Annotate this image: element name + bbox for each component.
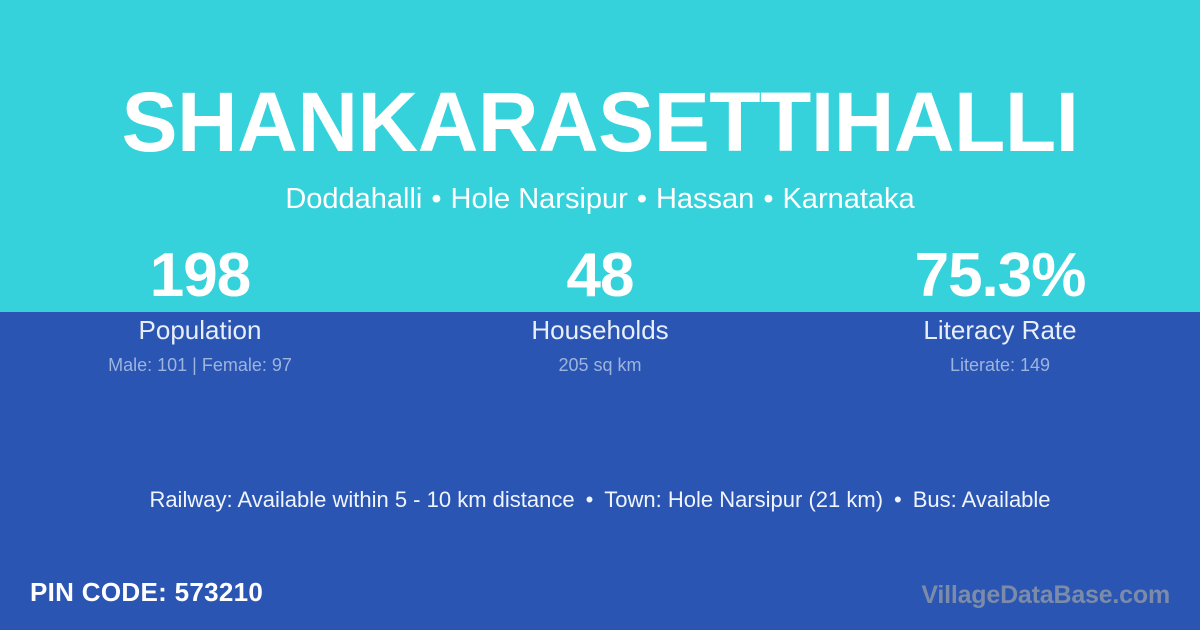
stat-value: 48: [400, 240, 800, 312]
stat-value: 198: [0, 240, 400, 312]
breadcrumb-item-state: Karnataka: [782, 183, 914, 215]
transport-separator: •: [883, 487, 913, 512]
transport-item-town: Town: Hole Narsipur (21 km): [604, 487, 883, 512]
breadcrumb-item-village: Doddahalli: [285, 183, 422, 215]
page-title: SHANKARASETTIHALLI: [0, 76, 1200, 168]
breadcrumb-separator: •: [422, 183, 450, 215]
stat-population: 198 Population Male: 101 | Female: 97: [0, 240, 400, 376]
breadcrumb-item-taluk: Hole Narsipur: [451, 183, 628, 215]
transport-item-railway: Railway: Available within 5 - 10 km dist…: [149, 487, 574, 512]
transport-item-bus: Bus: Available: [913, 487, 1051, 512]
stat-sublabel: Male: 101 | Female: 97: [0, 354, 400, 376]
stat-label: Population: [0, 315, 400, 345]
site-watermark: VillageDataBase.com: [921, 578, 1170, 612]
stat-value: 75.3%: [800, 240, 1200, 312]
breadcrumb: Doddahalli•Hole Narsipur•Hassan•Karnatak…: [0, 180, 1200, 218]
stats-row: 198 Population Male: 101 | Female: 97 48…: [0, 240, 1200, 376]
village-info-card: SHANKARASETTIHALLI Doddahalli•Hole Narsi…: [0, 0, 1200, 630]
stat-label: Households: [400, 315, 800, 345]
stat-sublabel: Literate: 149: [800, 354, 1200, 376]
stat-households: 48 Households 205 sq km: [400, 240, 800, 376]
breadcrumb-item-district: Hassan: [656, 183, 754, 215]
transport-info: Railway: Available within 5 - 10 km dist…: [0, 485, 1200, 515]
breadcrumb-separator: •: [754, 183, 782, 215]
stat-literacy-rate: 75.3% Literacy Rate Literate: 149: [800, 240, 1200, 376]
pin-code: PIN CODE: 573210: [30, 575, 263, 609]
stat-label: Literacy Rate: [800, 315, 1200, 345]
transport-separator: •: [575, 487, 605, 512]
breadcrumb-separator: •: [628, 183, 656, 215]
stat-sublabel: 205 sq km: [400, 354, 800, 376]
